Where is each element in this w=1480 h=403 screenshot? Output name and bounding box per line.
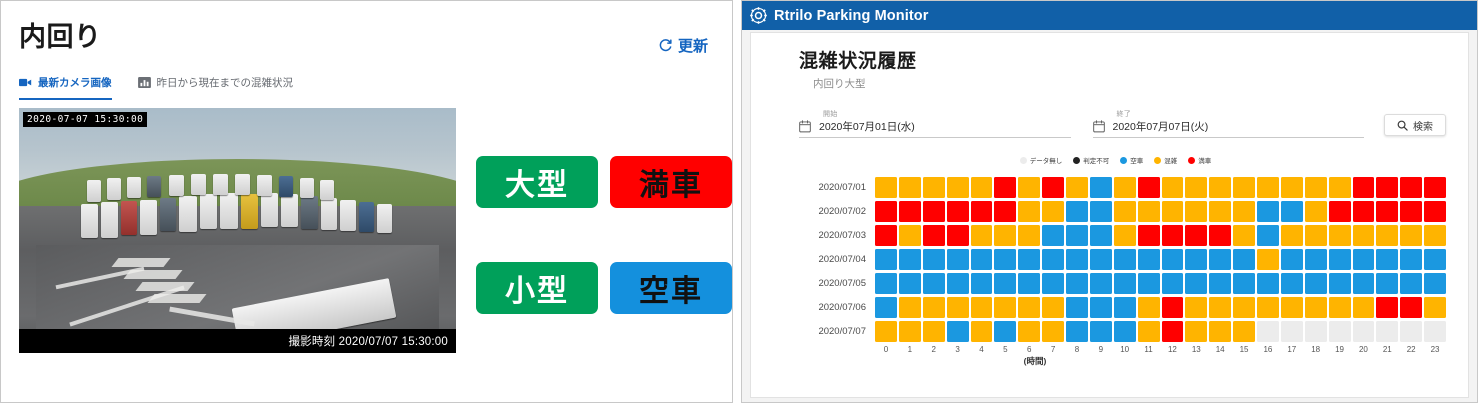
legend-swatch — [1020, 157, 1027, 164]
window-titlebar: Rtrilo Parking Monitor — [742, 1, 1477, 30]
heatmap-x-tick: 13 — [1185, 345, 1207, 354]
magnifier-icon — [1397, 120, 1408, 131]
heatmap-cell[interactable] — [1114, 249, 1136, 270]
calendar-icon[interactable] — [1093, 120, 1105, 133]
legend-item-nodata: データ無し — [1020, 155, 1063, 165]
heatmap-cell[interactable] — [1114, 297, 1136, 318]
heatmap-cell[interactable] — [1329, 201, 1351, 222]
heatmap-cell[interactable] — [1329, 273, 1351, 294]
bar-chart-icon — [138, 77, 151, 88]
heatmap-cell[interactable] — [994, 273, 1016, 294]
tab-latest-camera-image[interactable]: 最新カメラ画像 — [19, 75, 112, 97]
page-title: 内回り — [19, 23, 102, 53]
heatmap-cell[interactable] — [1090, 273, 1112, 294]
heatmap-cell[interactable] — [1185, 249, 1207, 270]
heatmap-cell[interactable] — [1185, 297, 1207, 318]
heatmap-row: 2020/07/07 — [799, 319, 1446, 343]
heatmap-cell[interactable] — [923, 225, 945, 246]
heatmap-x-tick: 10 — [1114, 345, 1136, 354]
status-badge-group: 大型 満車 小型 空車 — [476, 156, 732, 353]
heatmap-cell[interactable] — [1114, 273, 1136, 294]
heatmap-cell[interactable] — [1042, 297, 1064, 318]
heatmap-cell[interactable] — [1305, 201, 1327, 222]
heatmap-cell[interactable] — [971, 321, 993, 342]
heatmap-cell[interactable] — [971, 273, 993, 294]
heatmap-row: 2020/07/05 — [799, 271, 1446, 295]
heatmap-x-tick: 7 — [1042, 345, 1064, 354]
heatmap-cell[interactable] — [1090, 177, 1112, 198]
history-window: Rtrilo Parking Monitor 混雑状況履歴 内回り大型 開始 — [741, 0, 1478, 403]
heatmap-x-tick: 0 — [875, 345, 897, 354]
heatmap-cell[interactable] — [1305, 273, 1327, 294]
heatmap-cell[interactable] — [923, 201, 945, 222]
heatmap-cell[interactable] — [1281, 225, 1303, 246]
legend-item-busy: 混雑 — [1154, 155, 1177, 165]
legend-swatch — [1120, 157, 1127, 164]
start-date-field: 開始 — [799, 109, 1071, 138]
heatmap-row-label: 2020/07/02 — [799, 206, 875, 217]
heatmap-row-cells — [875, 201, 1446, 222]
heatmap-cell[interactable] — [1376, 273, 1398, 294]
heatmap-cell[interactable] — [899, 321, 921, 342]
heatmap-cell[interactable] — [1162, 321, 1184, 342]
heatmap-cell[interactable] — [1090, 201, 1112, 222]
heatmap-row-cells — [875, 321, 1446, 342]
heatmap-x-tick: 5 — [994, 345, 1016, 354]
heatmap-row-label: 2020/07/04 — [799, 254, 875, 265]
heatmap-cell[interactable] — [875, 297, 897, 318]
heatmap-cell[interactable] — [1090, 225, 1112, 246]
heatmap-row: 2020/07/03 — [799, 223, 1446, 247]
camera-chevron-marking — [147, 294, 206, 303]
heatmap-cell[interactable] — [1066, 249, 1088, 270]
heatmap-cell[interactable] — [1424, 249, 1446, 270]
camera-panel-tabs: 最新カメラ画像 昨日から現在までの混雑状況 — [19, 74, 712, 98]
heatmap-cell[interactable] — [899, 297, 921, 318]
heatmap-cell[interactable] — [947, 321, 969, 342]
heatmap-x-tick: 18 — [1305, 345, 1327, 354]
heatmap-cell[interactable] — [994, 225, 1016, 246]
history-page: 混雑状況履歴 内回り大型 開始 — [750, 32, 1469, 398]
camera-chevron-marking — [111, 258, 170, 267]
heatmap-cell[interactable] — [1138, 297, 1160, 318]
heatmap-cell[interactable] — [1066, 201, 1088, 222]
heatmap-row-label: 2020/07/03 — [799, 230, 875, 241]
status-badge-vacant[interactable]: 空車 — [610, 262, 732, 314]
heatmap-x-tick: 4 — [971, 345, 993, 354]
heatmap-x-tick: 19 — [1329, 345, 1351, 354]
heatmap-cell[interactable] — [1424, 225, 1446, 246]
heatmap-cell[interactable] — [994, 201, 1016, 222]
heatmap-cell[interactable] — [1400, 225, 1422, 246]
heatmap-cell[interactable] — [899, 249, 921, 270]
heatmap-x-tick: 8 — [1066, 345, 1088, 354]
heatmap-cell[interactable] — [1257, 177, 1279, 198]
window-title: Rtrilo Parking Monitor — [774, 8, 928, 24]
legend-label: 満車 — [1198, 155, 1211, 165]
camera-chevron-marking — [123, 270, 182, 279]
heatmap-cell[interactable] — [923, 297, 945, 318]
heatmap-cell[interactable] — [1329, 177, 1351, 198]
camera-overlay-timestamp: 2020-07-07 15:30:00 — [23, 112, 147, 127]
heatmap-row-cells — [875, 249, 1446, 270]
heatmap-cell[interactable] — [1305, 321, 1327, 342]
heatmap-cell[interactable] — [1281, 177, 1303, 198]
heatmap-cell[interactable] — [1400, 177, 1422, 198]
heatmap-row-cells — [875, 273, 1446, 294]
legend-label: 混雑 — [1164, 155, 1177, 165]
heatmap-row-label: 2020/07/01 — [799, 182, 875, 193]
heatmap-cell[interactable] — [1209, 321, 1231, 342]
heatmap-cell[interactable] — [1209, 273, 1231, 294]
heatmap-cell[interactable] — [1042, 225, 1064, 246]
heatmap-cell[interactable] — [971, 177, 993, 198]
status-badge-full[interactable]: 満車 — [610, 156, 732, 208]
legend-swatch — [1154, 157, 1161, 164]
heatmap-cell[interactable] — [1233, 177, 1255, 198]
heatmap-x-tick: 21 — [1376, 345, 1398, 354]
heatmap-cell[interactable] — [1185, 321, 1207, 342]
heatmap-cell[interactable] — [1329, 297, 1351, 318]
legend-swatch — [1188, 157, 1195, 164]
heatmap-cell[interactable] — [1353, 297, 1375, 318]
heatmap-x-tick: 6 — [1018, 345, 1040, 354]
heatmap-x-tick: 3 — [947, 345, 969, 354]
heatmap-cell[interactable] — [1233, 249, 1255, 270]
filter-bar: 開始 — [799, 109, 1446, 138]
heatmap-cell[interactable] — [1018, 225, 1040, 246]
heatmap-cell[interactable] — [1257, 297, 1279, 318]
gear-icon — [750, 7, 767, 24]
heatmap-cell[interactable] — [1257, 201, 1279, 222]
heatmap-cell[interactable] — [1042, 177, 1064, 198]
heatmap-cell[interactable] — [1162, 249, 1184, 270]
heatmap-cell[interactable] — [1376, 321, 1398, 342]
heatmap-cell[interactable] — [1209, 201, 1231, 222]
heatmap-row-cells — [875, 225, 1446, 246]
status-badge-small-vehicle[interactable]: 小型 — [476, 262, 598, 314]
heatmap-cell[interactable] — [947, 225, 969, 246]
heatmap-cell[interactable] — [1114, 201, 1136, 222]
heatmap-x-tick: 23 — [1424, 345, 1446, 354]
heatmap-cell[interactable] — [1066, 321, 1088, 342]
heatmap-cell[interactable] — [1233, 321, 1255, 342]
heatmap-cell[interactable] — [1257, 225, 1279, 246]
search-button[interactable]: 検索 — [1384, 114, 1446, 136]
end-date-field: 終了 — [1093, 109, 1365, 138]
heatmap-row-label: 2020/07/05 — [799, 278, 875, 289]
heatmap-cell[interactable] — [1400, 249, 1422, 270]
heatmap-row-label: 2020/07/07 — [799, 326, 875, 337]
heatmap-cell[interactable] — [994, 321, 1016, 342]
heatmap-row-cells — [875, 297, 1446, 318]
heatmap-cell[interactable] — [1042, 201, 1064, 222]
camera-panel: 内回り 更新 — [0, 0, 733, 403]
heatmap-cell[interactable] — [1042, 273, 1064, 294]
legend-item-empty: 空車 — [1120, 155, 1143, 165]
heatmap-cell[interactable] — [1257, 249, 1279, 270]
heatmap-cell[interactable] — [1018, 273, 1040, 294]
history-subtitle: 内回り大型 — [813, 76, 1446, 91]
heatmap-x-axis-title: (時間) — [875, 355, 1195, 367]
heatmap-cell[interactable] — [1376, 177, 1398, 198]
heatmap-cell[interactable] — [1162, 177, 1184, 198]
heatmap-cell[interactable] — [875, 225, 897, 246]
heatmap-cell[interactable] — [1114, 321, 1136, 342]
screenshot-root: 内回り 更新 — [0, 0, 1480, 403]
tab-label: 昨日から現在までの混雑状況 — [157, 75, 294, 90]
heatmap-cell[interactable] — [947, 273, 969, 294]
heatmap-cell[interactable] — [1353, 201, 1375, 222]
heatmap-cell[interactable] — [1090, 297, 1112, 318]
heatmap-cell[interactable] — [1233, 273, 1255, 294]
heatmap-cell[interactable] — [1281, 273, 1303, 294]
heatmap-cell[interactable] — [1400, 273, 1422, 294]
heatmap-cell[interactable] — [1233, 201, 1255, 222]
end-date-label: 終了 — [1117, 109, 1365, 119]
legend-label: 判定不可 — [1083, 155, 1109, 165]
heatmap-cell[interactable] — [1042, 249, 1064, 270]
heatmap-cell[interactable] — [1400, 297, 1422, 318]
heatmap-x-tick: 22 — [1400, 345, 1422, 354]
heatmap-cell[interactable] — [1305, 225, 1327, 246]
heatmap-cell[interactable] — [1185, 177, 1207, 198]
heatmap-cell[interactable] — [1090, 321, 1112, 342]
heatmap-cell[interactable] — [1185, 201, 1207, 222]
camera-image[interactable]: 2020-07-07 15:30:00 撮影時刻 2020/07/07 15:3… — [19, 108, 456, 353]
tab-congestion-since-yesterday[interactable]: 昨日から現在までの混雑状況 — [138, 75, 294, 97]
heatmap-cell[interactable] — [1138, 321, 1160, 342]
heatmap-cell[interactable] — [899, 201, 921, 222]
heatmap-row: 2020/07/04 — [799, 247, 1446, 271]
heatmap-cell[interactable] — [1066, 273, 1088, 294]
heatmap-cell[interactable] — [1162, 225, 1184, 246]
heatmap-cell[interactable] — [1257, 273, 1279, 294]
heatmap-cell[interactable] — [1376, 201, 1398, 222]
heatmap-cell[interactable] — [994, 177, 1016, 198]
heatmap-cell[interactable] — [923, 177, 945, 198]
heatmap-cell[interactable] — [1424, 273, 1446, 294]
heatmap-cell[interactable] — [899, 273, 921, 294]
heatmap-cell[interactable] — [1066, 225, 1088, 246]
heatmap-row: 2020/07/01 — [799, 175, 1446, 199]
heatmap-cell[interactable] — [1185, 225, 1207, 246]
heatmap-cell[interactable] — [971, 225, 993, 246]
congestion-heatmap: 2020/07/012020/07/022020/07/032020/07/04… — [799, 175, 1446, 343]
heatmap-cell[interactable] — [1114, 225, 1136, 246]
start-date-input[interactable] — [819, 121, 1071, 133]
heatmap-cell[interactable] — [1018, 297, 1040, 318]
heatmap-x-tick: 20 — [1353, 345, 1375, 354]
heatmap-x-tick: 2 — [923, 345, 945, 354]
chart-legend: データ無し 判定不可 空車 混雑 — [785, 155, 1446, 165]
heatmap-x-tick: 17 — [1281, 345, 1303, 354]
calendar-icon[interactable] — [799, 120, 811, 133]
heatmap-x-tick: 15 — [1233, 345, 1255, 354]
heatmap-cell[interactable] — [923, 321, 945, 342]
heatmap-row-label: 2020/07/06 — [799, 302, 875, 313]
camera-panel-body: 2020-07-07 15:30:00 撮影時刻 2020/07/07 15:3… — [19, 108, 712, 353]
heatmap-cell[interactable] — [1066, 177, 1088, 198]
heatmap-cell[interactable] — [1281, 249, 1303, 270]
heatmap-x-tick: 16 — [1257, 345, 1279, 354]
heatmap-cell[interactable] — [1376, 225, 1398, 246]
heatmap-cell[interactable] — [1162, 297, 1184, 318]
heatmap-cell[interactable] — [994, 249, 1016, 270]
heatmap-cell[interactable] — [899, 177, 921, 198]
heatmap-cell[interactable] — [994, 297, 1016, 318]
refresh-icon — [658, 38, 673, 53]
heatmap-cell[interactable] — [1424, 201, 1446, 222]
heatmap-cell[interactable] — [1114, 177, 1136, 198]
legend-label: 空車 — [1130, 155, 1143, 165]
heatmap-cell[interactable] — [1138, 201, 1160, 222]
heatmap-cell[interactable] — [1353, 177, 1375, 198]
tab-label: 最新カメラ画像 — [38, 75, 112, 90]
heatmap-cell[interactable] — [1424, 321, 1446, 342]
heatmap-cell[interactable] — [1353, 273, 1375, 294]
heatmap-cell[interactable] — [1424, 297, 1446, 318]
heatmap-cell[interactable] — [1233, 225, 1255, 246]
legend-item-unknown: 判定不可 — [1073, 155, 1109, 165]
heatmap-cell[interactable] — [923, 273, 945, 294]
heatmap-row: 2020/07/06 — [799, 295, 1446, 319]
heatmap-cell[interactable] — [1162, 201, 1184, 222]
heatmap-cell[interactable] — [875, 177, 897, 198]
heatmap-x-tick: 1 — [899, 345, 921, 354]
heatmap-cell[interactable] — [1424, 177, 1446, 198]
heatmap-cell[interactable] — [1281, 297, 1303, 318]
camera-panel-header: 内回り 更新 — [19, 23, 712, 56]
heatmap-cell[interactable] — [1400, 321, 1422, 342]
heatmap-cell[interactable] — [1066, 297, 1088, 318]
heatmap-x-tick: 14 — [1209, 345, 1231, 354]
heatmap-cell[interactable] — [1209, 177, 1231, 198]
legend-swatch — [1073, 157, 1080, 164]
heatmap-cell[interactable] — [1138, 249, 1160, 270]
heatmap-x-tick: 12 — [1162, 345, 1184, 354]
heatmap-cell[interactable] — [1090, 249, 1112, 270]
search-label: 検索 — [1413, 118, 1433, 133]
heatmap-cell[interactable] — [1400, 201, 1422, 222]
history-title: 混雑状況履歴 — [799, 46, 1446, 73]
refresh-label: 更新 — [678, 35, 708, 56]
camera-caption: 撮影時刻 2020/07/07 15:30:00 — [19, 329, 456, 353]
heatmap-cell[interactable] — [1042, 321, 1064, 342]
end-date-input[interactable] — [1113, 121, 1365, 133]
status-badge-large-vehicle[interactable]: 大型 — [476, 156, 598, 208]
heatmap-cell[interactable] — [1209, 225, 1231, 246]
video-camera-icon — [19, 77, 32, 88]
heatmap-cell[interactable] — [1018, 321, 1040, 342]
heatmap-cell[interactable] — [875, 321, 897, 342]
heatmap-cell[interactable] — [1305, 177, 1327, 198]
heatmap-cell[interactable] — [1305, 297, 1327, 318]
heatmap-cell[interactable] — [1376, 297, 1398, 318]
heatmap-cell[interactable] — [1233, 297, 1255, 318]
heatmap-cell[interactable] — [1018, 177, 1040, 198]
heatmap-cell[interactable] — [1353, 249, 1375, 270]
heatmap-cell[interactable] — [1305, 249, 1327, 270]
heatmap-cell[interactable] — [1138, 273, 1160, 294]
heatmap-cell[interactable] — [971, 201, 993, 222]
heatmap-cell[interactable] — [1209, 249, 1231, 270]
heatmap-row-cells — [875, 177, 1446, 198]
heatmap-cell[interactable] — [1138, 177, 1160, 198]
heatmap-cell[interactable] — [923, 249, 945, 270]
refresh-button[interactable]: 更新 — [658, 35, 708, 56]
heatmap-cell[interactable] — [1209, 297, 1231, 318]
heatmap-x-axis: 01234567891011121314151617181920212223 — [799, 345, 1446, 354]
heatmap-cell[interactable] — [1138, 225, 1160, 246]
heatmap-x-tick: 9 — [1090, 345, 1112, 354]
heatmap-row: 2020/07/02 — [799, 199, 1446, 223]
heatmap-cell[interactable] — [1353, 321, 1375, 342]
heatmap-cell[interactable] — [1329, 225, 1351, 246]
heatmap-cell[interactable] — [947, 297, 969, 318]
heatmap-cell[interactable] — [875, 201, 897, 222]
heatmap-cell[interactable] — [947, 201, 969, 222]
heatmap-cell[interactable] — [1185, 273, 1207, 294]
heatmap-cell[interactable] — [947, 177, 969, 198]
heatmap-cell[interactable] — [947, 249, 969, 270]
heatmap-cell[interactable] — [1281, 321, 1303, 342]
heatmap-cell[interactable] — [971, 297, 993, 318]
start-date-label: 開始 — [823, 109, 1071, 119]
heatmap-x-tick: 11 — [1138, 345, 1160, 354]
camera-chevron-marking — [135, 282, 194, 291]
heatmap-cell[interactable] — [1257, 321, 1279, 342]
heatmap-cell[interactable] — [899, 225, 921, 246]
legend-label: データ無し — [1030, 155, 1063, 165]
heatmap-cell[interactable] — [1018, 249, 1040, 270]
heatmap-cell[interactable] — [1376, 249, 1398, 270]
heatmap-cell[interactable] — [875, 249, 897, 270]
heatmap-cell[interactable] — [1281, 201, 1303, 222]
heatmap-cell[interactable] — [971, 249, 993, 270]
heatmap-cell[interactable] — [1329, 249, 1351, 270]
legend-item-full: 満車 — [1188, 155, 1211, 165]
heatmap-cell[interactable] — [1162, 273, 1184, 294]
heatmap-cell[interactable] — [1353, 225, 1375, 246]
heatmap-cell[interactable] — [875, 273, 897, 294]
heatmap-cell[interactable] — [1329, 321, 1351, 342]
heatmap-cell[interactable] — [1018, 201, 1040, 222]
